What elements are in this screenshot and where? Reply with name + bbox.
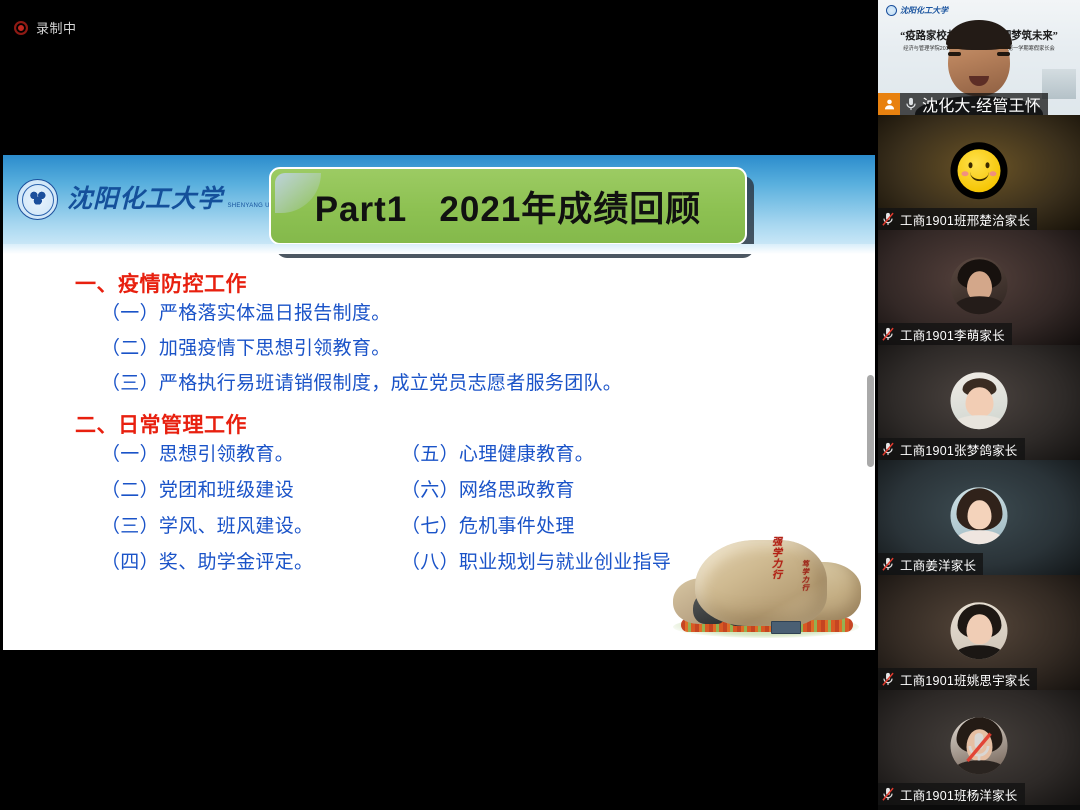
speaker-name: 沈化大-经管王怀 [922, 92, 1041, 115]
avatar [951, 257, 1008, 314]
participant-name: 工商姜洋家长 [900, 555, 976, 574]
feed-university-logo: 沈阳化工大学 [886, 5, 948, 16]
list-item: （一）严格落实体温日报告制度。 [101, 304, 875, 323]
presentation-slide: 沈阳化工大学 SHENYANG UNIVERSITY OF CHEMICAL T… [3, 155, 875, 650]
feed-seal-icon [886, 5, 897, 16]
microphone-muted-overlay-icon [962, 731, 996, 765]
avatar [951, 602, 1008, 659]
avatar [951, 372, 1008, 429]
list-item: （一）思想引领教育。 [101, 445, 401, 464]
rock-plaque [771, 621, 801, 634]
list-item: （二）加强疫情下思想引领教育。 [101, 339, 875, 358]
campus-rock-image: 强学力行 笃学力行 [667, 516, 867, 646]
avatar [951, 487, 1008, 544]
microphone-muted-icon [881, 787, 895, 802]
participant-name-strip: 工商1901张梦鸽家长 [878, 438, 1025, 460]
host-badge-icon [878, 93, 900, 115]
participant-name: 工商1901班邢楚洽家长 [900, 210, 1030, 229]
university-name-cn: 沈阳化工大学 [67, 186, 223, 213]
participant-tile[interactable]: 工商1901班邢楚洽家长 [878, 115, 1080, 230]
list-item: （六）网络思政教育 [401, 481, 701, 500]
speaker-name-strip: 沈化大-经管王怀 [878, 93, 1048, 115]
slide-body: 一、疫情防控工作 （一）严格落实体温日报告制度。 （二）加强疫情下思想引领教育。… [3, 254, 875, 650]
microphone-muted-icon [881, 672, 895, 687]
recording-indicator: 录制中 [14, 18, 77, 37]
microphone-muted-icon [881, 212, 895, 227]
participant-tile[interactable]: 工商1901李萌家长 [878, 230, 1080, 345]
rock-calligraphy-sub: 笃学力行 [801, 560, 808, 592]
smiley-face-icon [958, 149, 1001, 192]
list-item: （四）奖、助学金评定。 [101, 553, 401, 572]
participant-name-strip: 工商1901班邢楚洽家长 [878, 208, 1037, 230]
feed-logo-text: 沈阳化工大学 [900, 5, 948, 16]
participant-tile[interactable]: 工商1901张梦鸽家长 [878, 345, 1080, 460]
participant-name: 工商1901张梦鸽家长 [900, 440, 1018, 459]
microphone-on-icon [904, 97, 918, 112]
list-item: （八）职业规划与就业创业指导 [401, 553, 701, 572]
scrollbar-thumb[interactable] [867, 375, 874, 467]
list-item: （二）党团和班级建设 [101, 481, 401, 500]
list-item: （七）危机事件处理 [401, 517, 701, 536]
participant-tile[interactable]: 工商姜洋家长 [878, 460, 1080, 575]
section-1-list: （一）严格落实体温日报告制度。 （二）加强疫情下思想引领教育。 （三）严格执行易… [101, 304, 875, 393]
participant-name-strip: 工商1901李萌家长 [878, 323, 1012, 345]
microphone-muted-icon [881, 557, 895, 572]
recording-dot-icon [14, 21, 28, 35]
participant-name: 工商1901班姚思宇家长 [900, 670, 1030, 689]
slide-header: 沈阳化工大学 SHENYANG UNIVERSITY OF CHEMICAL T… [3, 155, 875, 254]
section-2-right-column: （五）心理健康教育。 （六）网络思政教育 （七）危机事件处理 （八）职业规划与就… [401, 445, 701, 589]
participant-name: 工商1901班杨洋家长 [900, 785, 1018, 804]
section-heading-1: 一、疫情防控工作 [75, 268, 875, 298]
recording-label: 录制中 [36, 18, 77, 37]
microphone-muted-icon [881, 442, 895, 457]
shared-screen-stage[interactable]: 沈阳化工大学 SHENYANG UNIVERSITY OF CHEMICAL T… [0, 0, 878, 810]
university-seal-icon [17, 179, 58, 220]
participant-tile[interactable]: 工商1901班杨洋家长 [878, 690, 1080, 805]
section-2-left-column: （一）思想引领教育。 （二）党团和班级建设 （三）学风、班风建设。 （四）奖、助… [101, 445, 401, 589]
participant-tile[interactable]: 工商1901班姚思宇家长 [878, 575, 1080, 690]
list-item: （五）心理健康教育。 [401, 445, 701, 464]
slide-title-plate: Part1 2021年成绩回顾 [269, 167, 747, 245]
participant-rail-scrollbar[interactable] [867, 0, 874, 810]
list-item: （三）严格执行易班请销假制度，成立党员志愿者服务团队。 [101, 374, 875, 393]
participant-rail[interactable]: 沈阳化工大学 “疫路家校共携手 同心圆梦筑未来” 经济与管理学院2019级本科生… [878, 0, 1080, 810]
participant-name-strip: 工商1901班姚思宇家长 [878, 668, 1037, 690]
participant-name-strip: 工商姜洋家长 [878, 553, 983, 575]
participant-name: 工商1901李萌家长 [900, 325, 1005, 344]
meeting-screen: 录制中 沈阳化工大学 SHENYANG UNIVERSITY OF CHEMIC… [0, 0, 1080, 810]
participant-name-strip: 工商1901班杨洋家长 [878, 783, 1025, 805]
microphone-muted-icon [881, 327, 895, 342]
participant-tile-speaker[interactable]: 沈阳化工大学 “疫路家校共携手 同心圆梦筑未来” 经济与管理学院2019级本科生… [878, 0, 1080, 115]
list-item: （三）学风、班风建设。 [101, 517, 401, 536]
section-heading-2: 二、日常管理工作 [75, 409, 875, 439]
avatar [951, 142, 1008, 199]
slide-title: Part1 2021年成绩回顾 [315, 181, 702, 232]
rock-calligraphy: 强学力行 [769, 536, 780, 580]
